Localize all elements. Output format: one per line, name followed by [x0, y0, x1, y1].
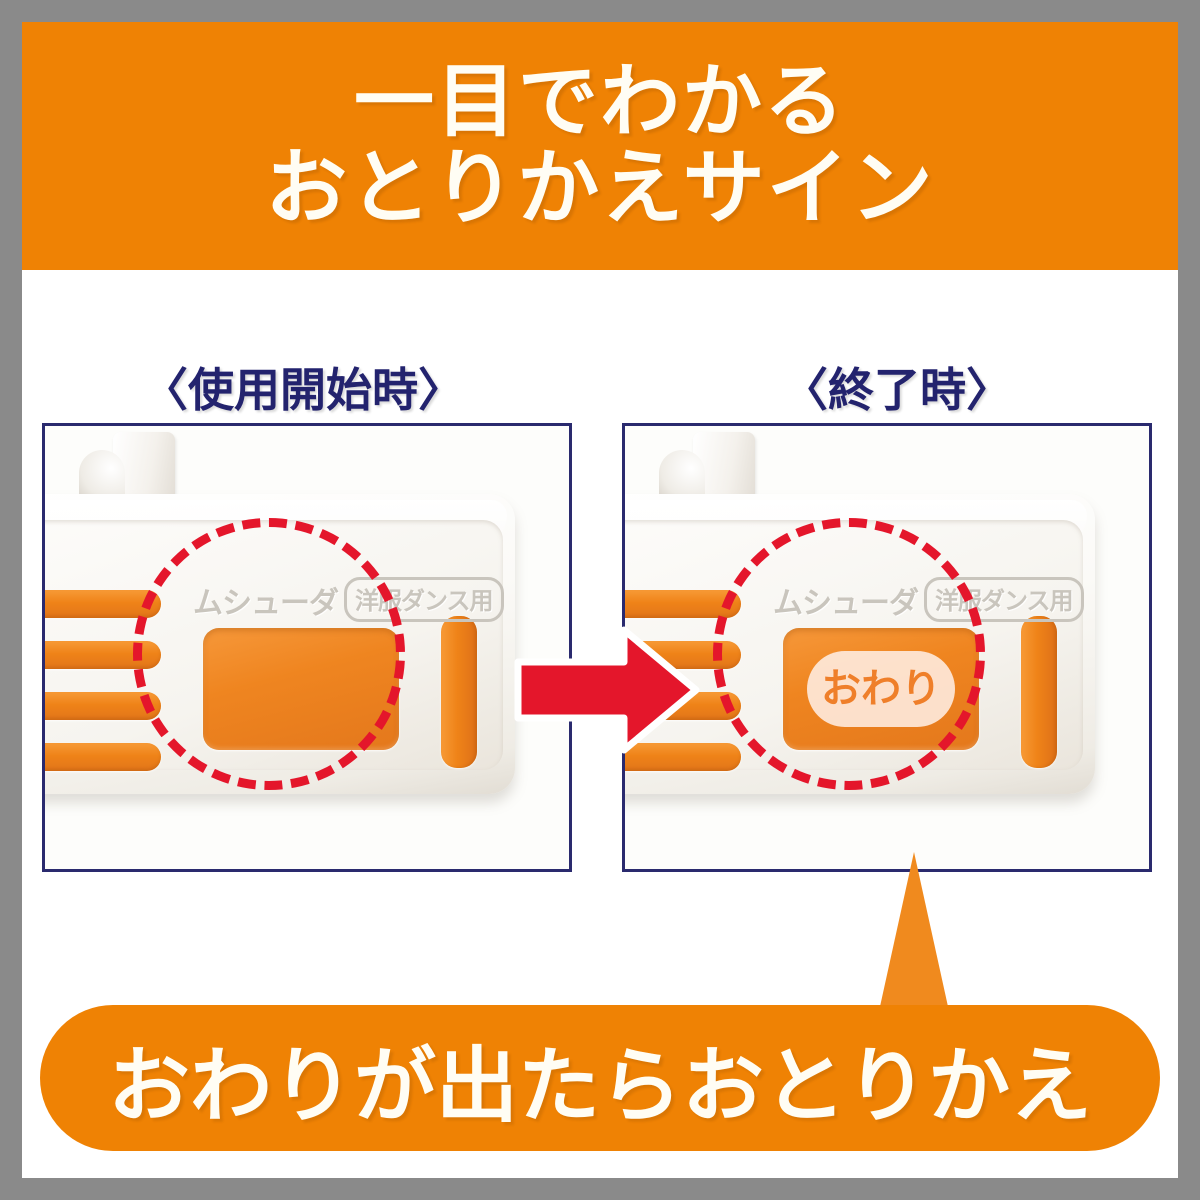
- transition-arrow-icon: [514, 622, 700, 758]
- comparison-panel-end: ムシューダ 洋服ダンス用 おわり: [622, 423, 1152, 872]
- bottom-callout-banner: おわりが出たらおとりかえ: [40, 1005, 1160, 1151]
- poster-root: 一目でわかる おとりかえサイン 〈使用開始時〉 〈終了時〉 ムシューダ: [0, 0, 1200, 1200]
- device-hook: [693, 432, 755, 502]
- header-title-line1: 一目でわかる: [354, 59, 846, 145]
- product-device-start: ムシューダ 洋服ダンス用: [42, 478, 515, 808]
- comparison-panel-start: ムシューダ 洋服ダンス用: [42, 423, 572, 872]
- vent-slot: [42, 743, 161, 771]
- panel-label-end: 〈終了時〉: [782, 354, 1012, 420]
- header-title-line2: おとりかえサイン: [265, 145, 935, 234]
- poster-canvas: 一目でわかる おとりかえサイン 〈使用開始時〉 〈終了時〉 ムシューダ: [22, 22, 1178, 1178]
- highlight-circle-start: [133, 518, 405, 790]
- highlight-circle-end: [713, 518, 985, 790]
- header-banner: 一目でわかる おとりかえサイン: [22, 22, 1178, 270]
- bottom-callout-text: おわりが出たらおとりかえ: [108, 1019, 1092, 1138]
- panel-label-start: 〈使用開始時〉: [142, 354, 464, 420]
- vent-slot-vertical: [1021, 616, 1057, 768]
- device-hook: [113, 432, 175, 502]
- vent-slot-vertical: [441, 616, 477, 768]
